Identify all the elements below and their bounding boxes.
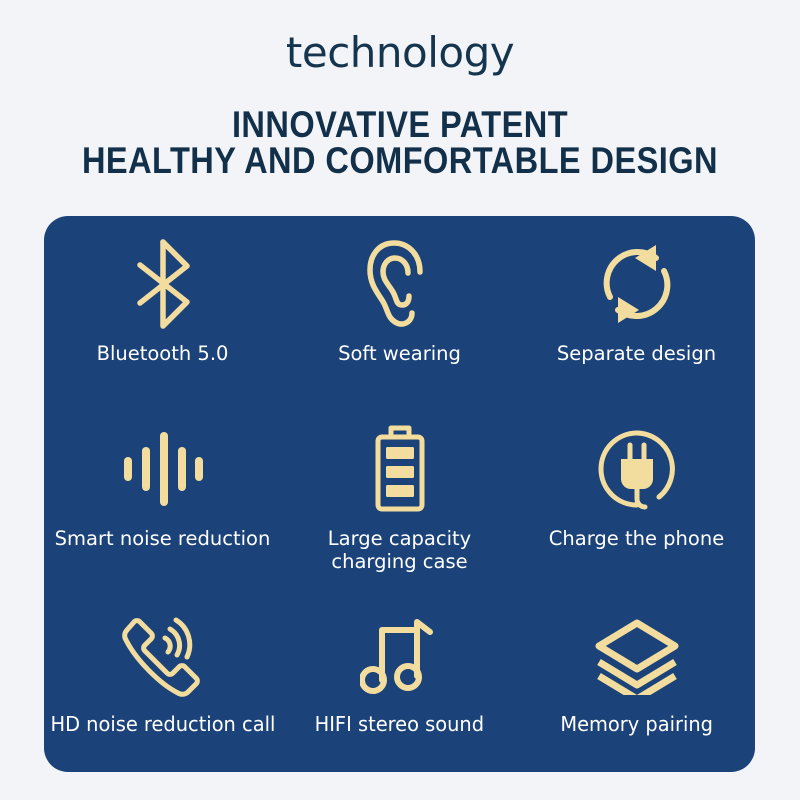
feature-label: HIFI stereo sound [315,713,484,737]
feature-label: Soft wearing [338,342,461,365]
feature-label: HD noise reduction call [50,713,275,737]
feature-label: Memory pairing [560,713,713,737]
feature-label: Large capacity charging case [328,527,471,573]
feature-cell-separate-design: Separate design [518,216,755,401]
bluetooth-icon [124,234,202,334]
feature-label: Smart noise reduction [55,527,271,550]
features-panel: Bluetooth 5.0 Soft wearing [44,216,755,772]
feature-label: Separate design [557,342,716,365]
brand-title: technology [0,28,800,77]
features-grid: Bluetooth 5.0 Soft wearing [44,216,755,772]
feature-cell-bluetooth: Bluetooth 5.0 [44,216,281,401]
feature-cell-hifi-sound: HIFI stereo sound [281,587,518,772]
power-plug-icon [593,419,681,519]
feature-label: Charge the phone [549,527,724,550]
feature-cell-memory-pairing: Memory pairing [518,587,755,772]
feature-label: Bluetooth 5.0 [97,342,229,365]
feature-cell-charging-case: Large capacity charging case [281,401,518,586]
ear-icon [364,234,436,334]
phone-call-icon [120,605,206,705]
battery-icon [369,419,431,519]
sound-wave-icon [120,419,206,519]
feature-cell-noise-reduction: Smart noise reduction [44,401,281,586]
feature-cell-charge-phone: Charge the phone [518,401,755,586]
refresh-sync-icon [594,234,680,334]
music-note-icon [360,605,440,705]
feature-cell-soft-wearing: Soft wearing [281,216,518,401]
headline-line-2: HEALTHY AND COMFORTABLE DESIGN [48,140,752,182]
feature-cell-hd-call: HD noise reduction call [44,587,281,772]
stacked-layers-icon [591,605,683,705]
